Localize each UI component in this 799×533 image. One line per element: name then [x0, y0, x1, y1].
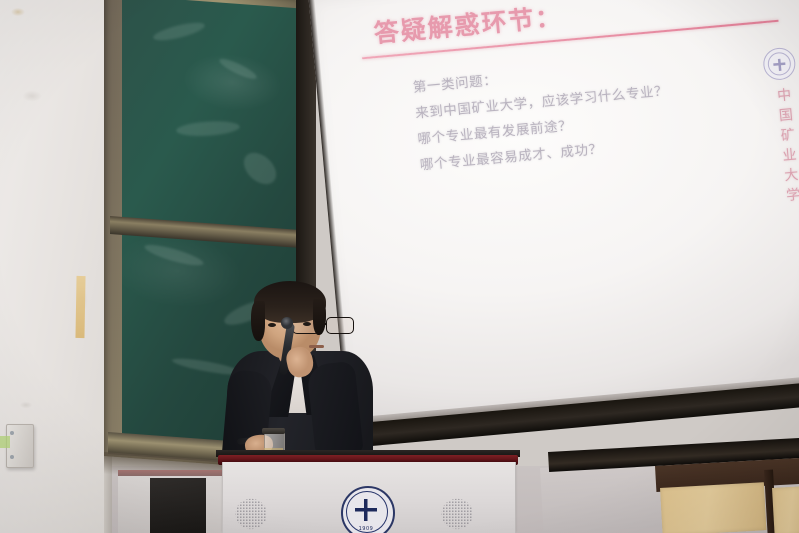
chalk-smudge — [218, 55, 259, 82]
wood-wall-panel — [660, 482, 767, 533]
podium-side-trim — [118, 470, 222, 476]
slide-watermark-text: 中国矿业大学 — [774, 87, 799, 208]
podium-side-dark-panel — [150, 478, 206, 533]
wood-wall-panel — [772, 486, 799, 533]
presenter-right-arm — [306, 361, 363, 458]
chalk-smudge — [238, 147, 282, 191]
emblem-pick-mark — [355, 499, 377, 521]
glasses-lens-right — [326, 317, 354, 334]
slide-body: 第一类问题： 来到中国矿业大学，应该学习什么专业？ 哪个专业最有发展前途？ 哪个… — [412, 44, 760, 178]
wall-tape-strip — [75, 276, 85, 338]
presenter-eye-left — [268, 323, 276, 327]
presenter-eye-right — [303, 322, 311, 326]
presenter-hair-side — [313, 299, 326, 335]
speaker-grille-left — [228, 492, 274, 533]
lecture-hall-photo: 答疑解惑环节： 第一类问题： 来到中国矿业大学，应该学习什么专业？ 哪个专业最有… — [0, 0, 799, 533]
water-glass-lid — [262, 428, 285, 434]
emblem-year: 1909 — [341, 526, 391, 532]
right-wall-panel — [540, 461, 667, 533]
chalk-smudge — [143, 241, 204, 269]
presenter-mouth — [309, 345, 324, 348]
presenter-hair-side — [251, 301, 265, 341]
chalk-smudge — [175, 120, 240, 138]
wall-switch-box[interactable] — [6, 424, 34, 468]
projection-screen: 答疑解惑环节： 第一类问题： 来到中国矿业大学，应该学习什么专业？ 哪个专业最有… — [306, 0, 799, 463]
switch-label-sticker — [0, 436, 10, 448]
cumt-seal-logo-icon — [762, 47, 797, 82]
projected-slide: 答疑解惑环节： 第一类问题： 来到中国矿业大学，应该学习什么专业？ 哪个专业最有… — [309, 0, 799, 428]
chalk-smudge — [151, 19, 206, 44]
cumt-emblem: 1909 — [341, 486, 391, 533]
speaker-grille-right — [434, 492, 480, 533]
